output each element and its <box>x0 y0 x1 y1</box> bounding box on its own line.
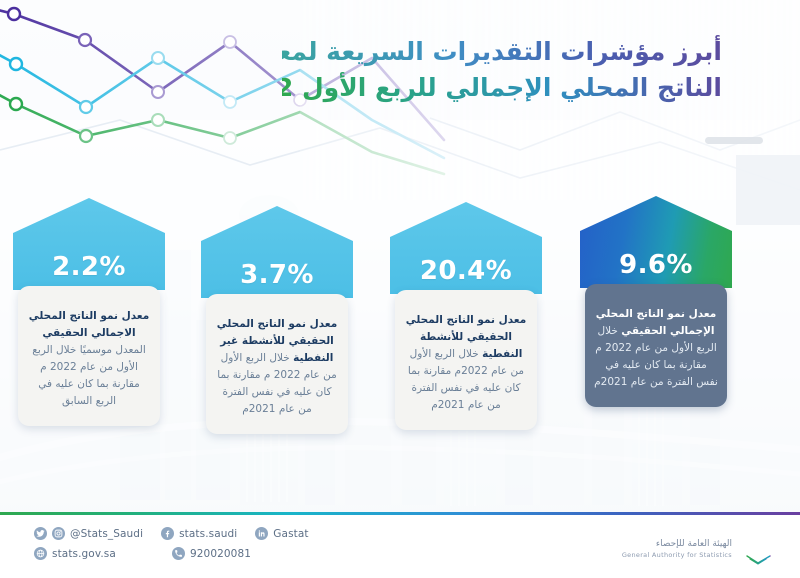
arrow-shape-2: 3.7% <box>201 206 353 298</box>
social-linkedin[interactable]: Gastat <box>255 527 308 540</box>
header: أبرز مؤشرات التقديرات السريعة لمعدلات نم… <box>282 34 722 105</box>
stat-description-4: معدل نمو الناتج المحلي الإجمالي الحقيقي … <box>585 284 727 407</box>
website-link[interactable]: stats.gov.sa <box>34 547 154 560</box>
social-row-1: @Stats_Saudi stats.saudi <box>34 527 309 540</box>
gastat-logo-mark <box>742 533 776 565</box>
stat-card-non-oil-activities[interactable]: 3.7% معدل نمو الناتج المحلي الحقيقي للأن… <box>201 206 353 434</box>
social-handle-facebook: stats.saudi <box>179 528 237 540</box>
gastat-logo: الهيئة العامة للإحصاء General Authority … <box>622 533 776 565</box>
arrow-shape-3: 20.4% <box>390 202 542 294</box>
phone-icon <box>172 547 185 560</box>
stat-description-1-bold: معدل نمو الناتج المحلي الاجمالي الحقيقي <box>29 310 149 339</box>
page-title-line-2: الناتج المحلي الإجمالي للربع الأول 2022م <box>282 70 722 106</box>
social-handle-linkedin: Gastat <box>273 528 308 540</box>
social-facebook[interactable]: stats.saudi <box>161 527 237 540</box>
facebook-icon <box>161 527 174 540</box>
stat-value-1: 2.2% <box>52 252 126 290</box>
arrow-shape-1: 2.2% <box>13 198 165 290</box>
stat-description-1-rest: المعدل موسميًا خلال الربع الأول من عام 2… <box>32 344 146 407</box>
social-row-2: stats.gov.sa 920020081 <box>34 547 309 560</box>
arrow-shape-4: 9.6% <box>580 196 732 288</box>
instagram-icon <box>52 527 65 540</box>
gastat-logo-text: الهيئة العامة للإحصاء General Authority … <box>622 539 732 558</box>
stat-card-oil-activities[interactable]: 20.4% معدل نمو الناتج المحلي الحقيقي للأ… <box>390 202 542 430</box>
gastat-name-english: General Authority for Statistics <box>622 551 732 559</box>
footer: @Stats_Saudi stats.saudi <box>0 515 800 578</box>
stat-description-1: معدل نمو الناتج المحلي الاجمالي الحقيقي … <box>18 286 160 426</box>
stat-card-real-gdp[interactable]: 9.6% معدل نمو الناتج المحلي الإجمالي الح… <box>580 196 732 407</box>
phone-number: 920020081 <box>190 548 251 560</box>
social-twitter-instagram[interactable]: @Stats_Saudi <box>34 527 143 540</box>
social-links: @Stats_Saudi stats.saudi <box>34 527 309 560</box>
stat-value-3: 20.4% <box>420 256 512 294</box>
stat-value-4: 9.6% <box>619 250 693 288</box>
stat-card-gdp-seasonally-adjusted[interactable]: 2.2% معدل نمو الناتج المحلي الاجمالي الح… <box>13 198 165 426</box>
infographic-poster: أبرز مؤشرات التقديرات السريعة لمعدلات نم… <box>0 0 800 578</box>
globe-icon <box>34 547 47 560</box>
stat-value-2: 3.7% <box>240 260 314 298</box>
twitter-icon <box>34 527 47 540</box>
page-title-line-1: أبرز مؤشرات التقديرات السريعة لمعدلات نم… <box>282 34 722 70</box>
gastat-name-arabic: الهيئة العامة للإحصاء <box>622 539 732 550</box>
stat-description-2: معدل نمو الناتج المحلي الحقيقي للأنشطة غ… <box>206 294 348 434</box>
social-handle-twitter: @Stats_Saudi <box>70 528 143 540</box>
phone-link[interactable]: 920020081 <box>172 547 251 560</box>
linkedin-icon <box>255 527 268 540</box>
stat-description-3: معدل نمو الناتج المحلي الحقيقي للأنشطة ا… <box>395 290 537 430</box>
website-url: stats.gov.sa <box>52 548 116 560</box>
